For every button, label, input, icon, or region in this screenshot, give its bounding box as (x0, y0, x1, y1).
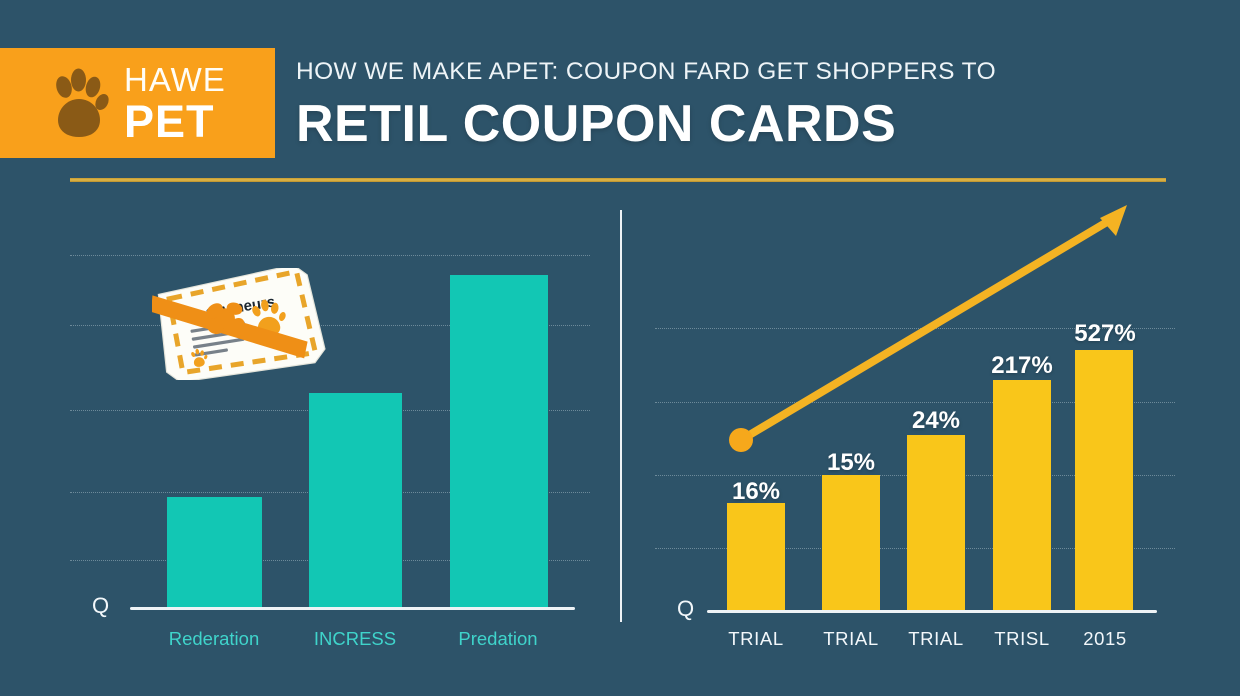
brand-line-2: PET (124, 99, 215, 144)
left-axis-line (130, 607, 575, 610)
cat-label-2015-5: 2015 (1083, 628, 1127, 650)
bar-2015-5[interactable] (1075, 350, 1133, 610)
cat-label-incress: INCRESS (314, 628, 396, 650)
page-title: RETIL COUPON CARDS (296, 94, 1176, 154)
header-kicker: HOW WE MAKE APET: COUPON FARD GET SHOPPE… (296, 58, 1176, 86)
bar-predation[interactable] (450, 275, 548, 607)
value-label-trial-1: 16% (732, 478, 780, 506)
paw-print-icon (48, 67, 110, 139)
cat-label-trial-3: TRIAL (908, 628, 963, 650)
header-divider-rule (70, 178, 1166, 182)
brand-logo-badge: HAWE PET (0, 48, 275, 158)
bar-trial-3[interactable] (907, 435, 965, 610)
left-axis-origin-label: Q (92, 593, 109, 619)
cat-label-trial-2: TRIAL (823, 628, 878, 650)
value-label-trial-2: 15% (827, 449, 875, 477)
title-block: HOW WE MAKE APET: COUPON FARD GET SHOPPE… (296, 58, 1176, 154)
bar-incress[interactable] (309, 393, 402, 607)
bar-trial-1[interactable] (727, 503, 785, 610)
panel-divider (620, 210, 622, 622)
brand-wordmark: HAWE PET (124, 63, 226, 144)
brand-line-1: HAWE (124, 63, 226, 96)
cat-label-rederation: Rederation (169, 628, 260, 650)
right-axis-line (707, 610, 1157, 613)
infographic-canvas: HAWE PET HOW WE MAKE APET: COUPON FARD G… (0, 0, 1240, 696)
value-label-trial-3: 24% (912, 407, 960, 435)
left-bar-chart: Q Rederation INCRESS Predation (70, 200, 590, 660)
bar-trial-2[interactable] (822, 475, 880, 610)
bar-trisl-4[interactable] (993, 380, 1051, 610)
coupon-card-icon: ally neurs (152, 268, 328, 380)
right-axis-origin-label: Q (677, 596, 694, 622)
cat-label-predation: Predation (458, 628, 537, 650)
right-bar-chart: 16% 15% 24% 217% 527% Q TRIAL TRIAL TRIA… (655, 200, 1175, 660)
bar-rederation[interactable] (167, 497, 262, 607)
cat-label-trisl-4: TRISL (994, 628, 1049, 650)
cat-label-trial-1: TRIAL (728, 628, 783, 650)
value-label-2015-5: 527% (1074, 320, 1135, 348)
right-plot-area (655, 200, 1175, 610)
value-label-trisl-4: 217% (991, 352, 1052, 380)
left-plot-area (70, 200, 590, 607)
